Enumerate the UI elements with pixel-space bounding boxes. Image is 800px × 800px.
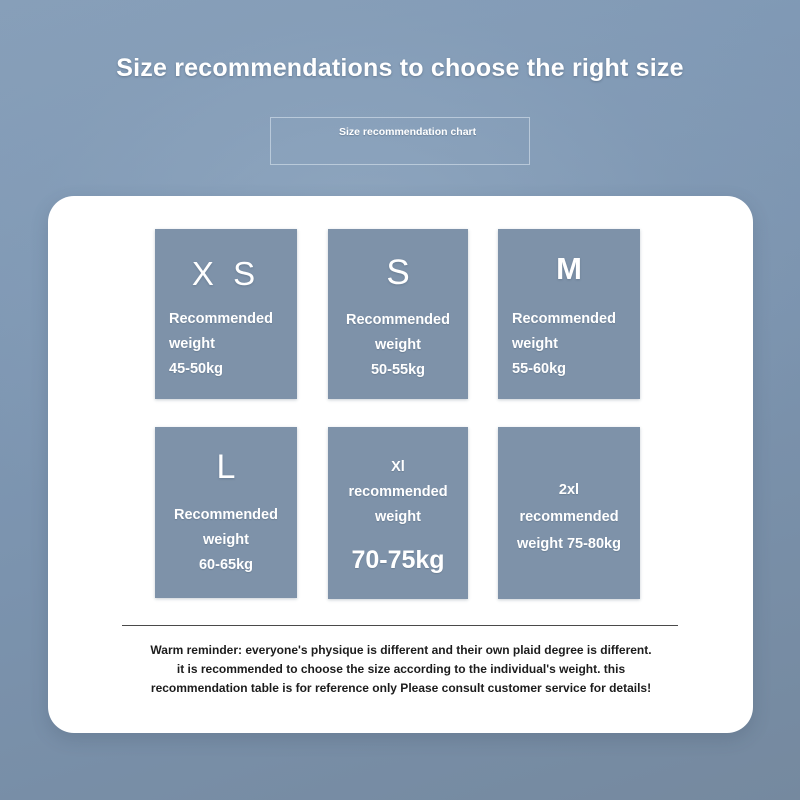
weight-range-l: 60-65kg: [161, 553, 291, 578]
size-card-m[interactable]: M Recommended weight 55-60kg: [498, 229, 640, 399]
weight-range-xs: 45-50kg: [169, 357, 289, 382]
weight-range-2xl: weight 75-80kg: [504, 531, 634, 558]
recommended-label-xs: Recommended: [169, 307, 289, 332]
size-recommendation-chart-label: Size recommendation chart: [339, 126, 499, 139]
size-label-m: M: [498, 251, 640, 287]
size-recommendation-chart-box: Size recommendation chart: [270, 117, 530, 165]
size-card-m-body: Recommended weight 55-60kg: [512, 307, 632, 382]
size-chart-page: Size recommendations to choose the right…: [0, 0, 800, 800]
footer-divider: [122, 625, 678, 626]
recommended-label-2xl: recommended: [504, 504, 634, 531]
warm-reminder-line-2: it is recommended to choose the size acc…: [126, 660, 676, 679]
warm-reminder-line-3: recommendation table is for reference on…: [126, 679, 676, 698]
size-card-grid: X S Recommended weight 45-50kg S Recomme…: [155, 229, 688, 600]
weight-label-m: weight: [512, 332, 632, 357]
weight-range-s: 50-55kg: [334, 358, 462, 383]
size-card-l-body: Recommended weight 60-65kg: [161, 503, 291, 578]
recommended-label-l: Recommended: [161, 503, 291, 528]
size-card-2xl-body: 2xl recommended weight 75-80kg: [504, 477, 634, 558]
page-title: Size recommendations to choose the right…: [0, 54, 800, 83]
weight-range-m: 55-60kg: [512, 357, 632, 382]
weight-label-s: weight: [334, 333, 462, 358]
size-card-xl-body: Xl recommended weight 70-75kg: [334, 455, 462, 578]
warm-reminder-line-1: Warm reminder: everyone's physique is di…: [126, 641, 676, 660]
size-label-xs: X S: [155, 255, 297, 293]
size-label-s: S: [328, 253, 468, 293]
recommended-label-xl: recommended: [334, 480, 462, 505]
size-card-xs[interactable]: X S Recommended weight 45-50kg: [155, 229, 297, 399]
size-label-l: L: [155, 448, 297, 487]
weight-label-xl: weight: [334, 505, 462, 530]
recommended-label-m: Recommended: [512, 307, 632, 332]
size-card-xs-body: Recommended weight 45-50kg: [169, 307, 289, 382]
size-chart-panel: X S Recommended weight 45-50kg S Recomme…: [48, 196, 753, 733]
recommended-label-s: Recommended: [334, 308, 462, 333]
weight-range-xl: 70-75kg: [334, 542, 462, 578]
weight-label-xs: weight: [169, 332, 289, 357]
size-card-xl[interactable]: Xl recommended weight 70-75kg: [328, 427, 468, 599]
size-card-s-body: Recommended weight 50-55kg: [334, 308, 462, 383]
warm-reminder-note: Warm reminder: everyone's physique is di…: [126, 641, 676, 698]
size-card-2xl[interactable]: 2xl recommended weight 75-80kg: [498, 427, 640, 599]
size-label-xl: Xl: [334, 455, 462, 480]
size-card-l[interactable]: L Recommended weight 60-65kg: [155, 427, 297, 598]
size-label-2xl: 2xl: [504, 477, 634, 504]
size-card-s[interactable]: S Recommended weight 50-55kg: [328, 229, 468, 399]
weight-label-l: weight: [161, 528, 291, 553]
